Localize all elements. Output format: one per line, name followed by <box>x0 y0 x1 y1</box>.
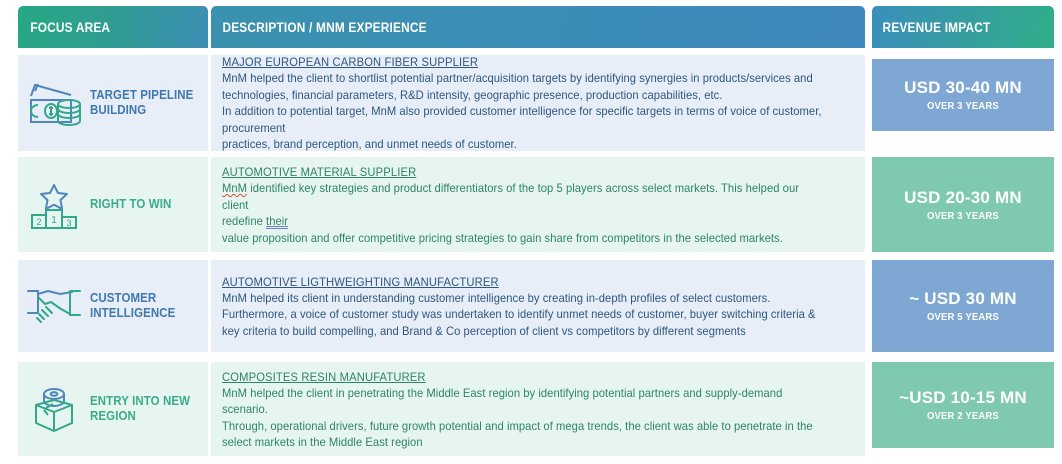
description-line: value proposition and offer competitive … <box>222 230 826 247</box>
table-row: ENTRY INTO NEW REGION COMPOSITES RESIN M… <box>0 362 1062 456</box>
description-line: Through, operational drivers, future gro… <box>222 418 826 435</box>
revenue-duration: OVER 3 YEARS <box>927 210 999 222</box>
focus-area-label: TARGET PIPELINE BUILDING <box>90 88 199 118</box>
revenue-duration: OVER 3 YEARS <box>927 100 999 112</box>
revenue-amount: ~ USD 30 MN <box>909 289 1017 309</box>
description-title: AUTOMOTIVE LIGTHWEIGHTING MANUFACTURER <box>222 275 826 289</box>
description-line-rest: identified key strategies and product di… <box>222 181 799 212</box>
description-line: In addition to potential target, MnM als… <box>222 103 826 120</box>
revenue-impact-badge: USD 20-30 MN OVER 3 YEARS <box>872 157 1054 252</box>
description-cell: MAJOR EUROPEAN CARBON FIBER SUPPLIER MnM… <box>222 55 858 151</box>
focus-area-label: CUSTOMER INTELLIGENCE <box>90 291 199 321</box>
table-row: TARGET PIPELINE BUILDING MAJOR EUROPEAN … <box>0 55 1062 151</box>
description-line: MnM helped its client in understanding c… <box>222 290 826 307</box>
revenue-amount: USD 20-30 MN <box>904 188 1022 208</box>
grammar-flagged-word: their <box>266 214 288 228</box>
description-line: procurement <box>222 120 826 137</box>
description-line: practices, brand perception, and unmet n… <box>222 136 826 153</box>
description-line: MnM helped the client in penetrating the… <box>222 385 826 418</box>
description-line: redefine their <box>222 213 826 230</box>
svg-text:1: 1 <box>51 215 57 226</box>
revenue-duration: OVER 2 YEARS <box>927 410 999 422</box>
description-line: MnM identified key strategies and produc… <box>222 180 826 213</box>
description-cell: AUTOMOTIVE MATERIAL SUPPLIER MnM identif… <box>222 157 858 252</box>
table-header-row: FOCUS AREA DESCRIPTION / MNM EXPERIENCE … <box>0 0 1062 48</box>
description-cell: COMPOSITES RESIN MANUFATURER MnM helped … <box>222 362 858 456</box>
svg-text:2: 2 <box>36 217 41 227</box>
table-row: CUSTOMER INTELLIGENCE AUTOMOTIVE LIGTHWE… <box>0 260 1062 352</box>
focus-area-cell: ENTRY INTO NEW REGION <box>18 362 208 456</box>
description-line: MnM helped the client to shortlist poten… <box>222 70 826 87</box>
revenue-amount: ~USD 10-15 MN <box>899 388 1027 408</box>
header-cell-description: DESCRIPTION / MNM EXPERIENCE <box>211 6 865 48</box>
description-line: key criteria to build compelling, and Br… <box>222 323 826 340</box>
description-title: MAJOR EUROPEAN CARBON FIBER SUPPLIER <box>222 55 826 69</box>
package-box-icon <box>18 383 90 435</box>
revenue-duration: OVER 5 YEARS <box>927 311 999 323</box>
focus-area-cell: 1 2 3 RIGHT TO WIN <box>18 157 208 252</box>
header-label-revenue-impact: REVENUE IMPACT <box>872 20 990 35</box>
podium-star-icon: 1 2 3 <box>18 180 90 230</box>
revenue-impact-badge: ~ USD 30 MN OVER 5 YEARS <box>872 260 1054 352</box>
table-row: 1 2 3 RIGHT TO WIN AUTOMOTIVE MATERIAL S… <box>0 157 1062 252</box>
description-cell: AUTOMOTIVE LIGTHWEIGHTING MANUFACTURER M… <box>222 260 858 352</box>
focus-area-cell: CUSTOMER INTELLIGENCE <box>18 260 208 352</box>
focus-area-label: RIGHT TO WIN <box>90 197 171 212</box>
description-line-rest: redefine <box>222 214 266 228</box>
revenue-impact-badge: ~USD 10-15 MN OVER 2 YEARS <box>872 362 1054 448</box>
description-title: COMPOSITES RESIN MANUFATURER <box>222 370 826 384</box>
header-label-focus-area: FOCUS AREA <box>18 20 110 35</box>
svg-text:3: 3 <box>66 218 71 228</box>
description-line: select markets in the Middle East region <box>222 434 826 451</box>
money-coins-icon <box>18 78 90 128</box>
focus-area-label: ENTRY INTO NEW REGION <box>90 394 199 424</box>
misspelled-word: MnM <box>222 181 247 195</box>
revenue-impact-badge: USD 30-40 MN OVER 3 YEARS <box>872 59 1054 131</box>
description-line: technologies, financial parameters, R&D … <box>222 87 826 104</box>
header-cell-focus-area: FOCUS AREA <box>18 6 208 48</box>
description-line: Furthermore, a voice of customer study w… <box>222 306 826 323</box>
handshake-icon <box>18 283 90 329</box>
focus-area-cell: TARGET PIPELINE BUILDING <box>18 55 208 151</box>
description-title: AUTOMOTIVE MATERIAL SUPPLIER <box>222 165 826 179</box>
comparison-table: FOCUS AREA DESCRIPTION / MNM EXPERIENCE … <box>0 0 1062 464</box>
header-cell-revenue-impact: REVENUE IMPACT <box>872 6 1054 48</box>
header-label-description: DESCRIPTION / MNM EXPERIENCE <box>211 20 427 35</box>
revenue-amount: USD 30-40 MN <box>904 78 1022 98</box>
